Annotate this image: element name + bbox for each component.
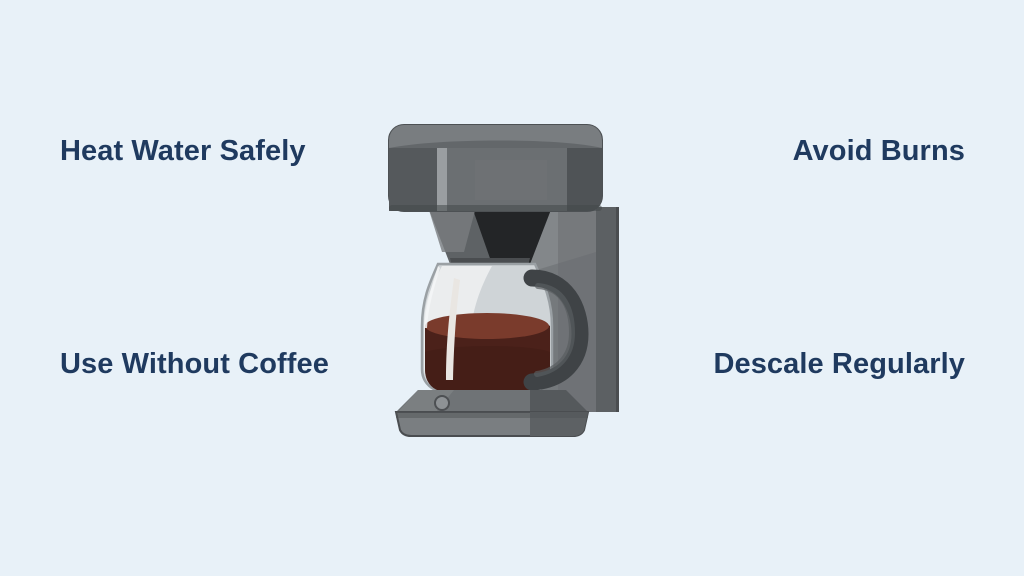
- power-indicator-button: [435, 396, 449, 410]
- coffee-maker-illustration: [380, 112, 630, 437]
- label-descale-regularly: Descale Regularly: [585, 341, 965, 387]
- label-use-without-coffee: Use Without Coffee: [60, 341, 330, 387]
- slide-canvas: Heat Water Safely Avoid Burns Use Withou…: [0, 0, 1024, 576]
- warming-plate-base: [396, 390, 588, 436]
- label-avoid-burns: Avoid Burns: [645, 128, 965, 174]
- label-heat-water-safely: Heat Water Safely: [60, 128, 320, 174]
- water-reservoir-top: [389, 125, 602, 211]
